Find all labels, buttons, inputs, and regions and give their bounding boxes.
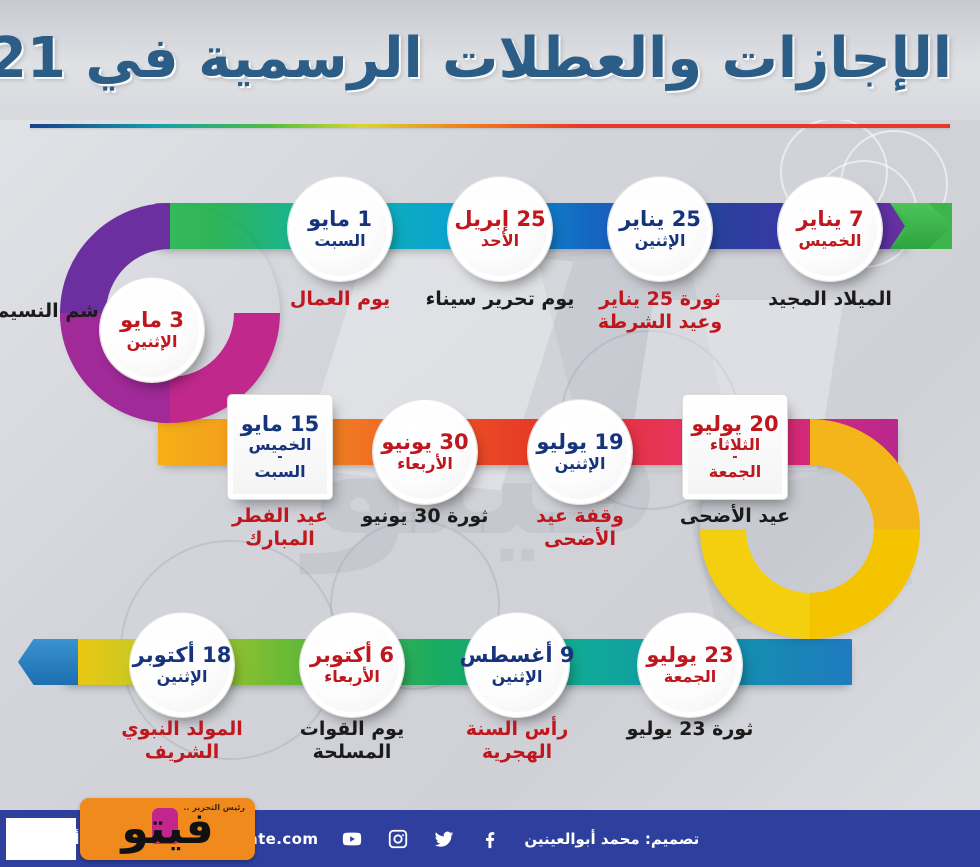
twitter-icon[interactable] [432, 827, 456, 851]
brand-tagline: رئيس التحرير .. [183, 803, 245, 812]
event-marker-jul-20[interactable]: 20 يوليو الثلاثاء - الجمعة [683, 395, 787, 499]
event-marker-may-1[interactable]: 1 مايو السبت [288, 177, 392, 281]
event-marker-jul-23[interactable]: 23 يوليو الجمعة [638, 613, 742, 717]
event-marker-jun-30[interactable]: 30 يونيو الأربعاء [373, 400, 477, 504]
event-day-two: السبت [254, 464, 305, 480]
event-date: 1 مايو [308, 209, 372, 230]
event-caption-may-1: يوم العمال [265, 288, 415, 311]
event-day: الإثنين [555, 456, 606, 472]
event-caption-jul-20: عيد الأضحى [660, 505, 810, 528]
event-bubble: 19 يوليو الإثنين [528, 400, 632, 504]
event-date: 7 يناير [796, 209, 863, 230]
event-caption-oct-6: يوم القوات المسلحة [277, 718, 427, 764]
event-day: الخميس [799, 233, 862, 249]
event-date: 23 يوليو [646, 645, 733, 666]
event-day: الجمعة [664, 669, 716, 685]
event-date: 25 يناير [619, 209, 701, 230]
brand-logo[interactable]: رئيس التحرير .. فيتو [80, 798, 255, 860]
event-caption-jul-23: ثورة 23 يوليو [615, 718, 765, 741]
event-bubble: 25 إبريل الأحد [448, 177, 552, 281]
event-caption-may-15: عيد الفطر المبارك [205, 505, 355, 551]
event-marker-jan-7[interactable]: 7 يناير الخميس [778, 177, 882, 281]
event-bubble: 25 يناير الإثنين [608, 177, 712, 281]
brand-logo-text: فيتو [121, 807, 213, 851]
event-bubble: 7 يناير الخميس [778, 177, 882, 281]
event-day: الأحد [481, 233, 519, 249]
event-caption-jun-30: ثورة 30 يونيو [350, 505, 500, 528]
youtube-icon[interactable] [340, 827, 364, 851]
event-marker-oct-6[interactable]: 6 أكتوبر الأربعاء [300, 613, 404, 717]
event-bubble: 20 يوليو الثلاثاء - الجمعة [683, 395, 787, 499]
credit-designer: تصميم: محمد أبوالعينين [524, 830, 699, 848]
event-date: 9 أغسطس [460, 645, 575, 666]
arrow-head-icon [18, 639, 78, 685]
event-bubble: 30 يونيو الأربعاء [373, 400, 477, 504]
event-marker-jul-19[interactable]: 19 يوليو الإثنين [528, 400, 632, 504]
event-marker-aug-9[interactable]: 9 أغسطس الإثنين [465, 613, 569, 717]
infographic-page: فيتو الإجازات والعطلات الرسمية في 2021 7… [0, 0, 980, 867]
event-day-dash: - [732, 454, 737, 462]
event-marker-may-15[interactable]: 15 مايو الخميس - السبت [228, 395, 332, 499]
event-date: 18 أكتوبر [133, 645, 232, 666]
event-day: الإثنين [127, 334, 178, 350]
event-caption-jul-19: وقفة عيد الأضحى [505, 505, 655, 551]
event-date: 15 مايو [241, 414, 319, 435]
event-caption-jan-7: الميلاد المجيد [755, 288, 905, 311]
event-caption-may-3: شم النسيم [0, 300, 102, 323]
event-date: 19 يوليو [536, 432, 623, 453]
event-date: 30 يونيو [381, 432, 468, 453]
event-day-dash: - [277, 454, 282, 462]
event-marker-oct-18[interactable]: 18 أكتوبر الإثنين [130, 613, 234, 717]
event-day: الأربعاء [324, 669, 380, 685]
event-date: 25 إبريل [454, 209, 545, 230]
event-bubble: 15 مايو الخميس - السبت [228, 395, 332, 499]
event-marker-may-3[interactable]: 3 مايو الإثنين [100, 278, 204, 382]
event-bubble: 6 أكتوبر الأربعاء [300, 613, 404, 717]
event-date: 20 يوليو [691, 414, 778, 435]
event-day: الإثنين [157, 669, 208, 685]
event-marker-jan-25[interactable]: 25 يناير الإثنين [608, 177, 712, 281]
event-marker-apr-25[interactable]: 25 إبريل الأحد [448, 177, 552, 281]
event-date: 6 أكتوبر [310, 645, 394, 666]
event-date: 3 مايو [120, 310, 184, 331]
event-day: الإثنين [635, 233, 686, 249]
event-caption-aug-9: رأس السنة الهجرية [442, 718, 592, 764]
facebook-icon[interactable] [478, 827, 502, 851]
footer-left-tab [0, 818, 76, 860]
event-day-two: الجمعة [709, 464, 761, 480]
event-bubble: 9 أغسطس الإثنين [465, 613, 569, 717]
event-day: السبت [314, 233, 365, 249]
event-day: الأربعاء [397, 456, 453, 472]
event-bubble: 1 مايو السبت [288, 177, 392, 281]
instagram-icon[interactable] [386, 827, 410, 851]
event-bubble: 23 يوليو الجمعة [638, 613, 742, 717]
event-caption-apr-25: يوم تحرير سيناء [425, 288, 575, 311]
event-day: الإثنين [492, 669, 543, 685]
event-bubble: 3 مايو الإثنين [100, 278, 204, 382]
event-caption-oct-18: المولد النبوي الشريف [107, 718, 257, 764]
event-caption-jan-25: ثورة 25 يناير وعيد الشرطة [585, 288, 735, 334]
event-bubble: 18 أكتوبر الإثنين [130, 613, 234, 717]
